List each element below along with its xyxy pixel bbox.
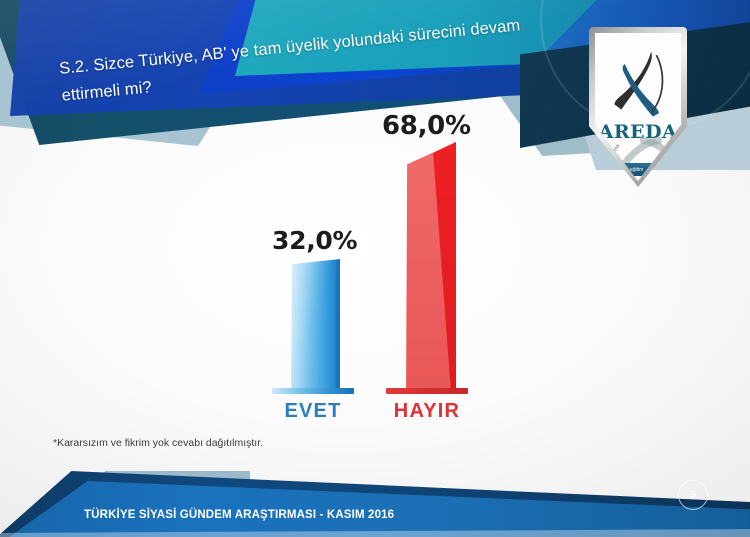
footer-title: TÜRKİYE SİYASİ GÜNDEM ARAŞTIRMASI - KASI… xyxy=(84,509,394,521)
slide-footer: TÜRKİYE SİYASİ GÜNDEM ARAŞTIRMASI - KASI… xyxy=(0,467,750,537)
bar-hayir xyxy=(404,142,456,390)
bar-evet xyxy=(288,259,340,390)
bar-evet-highlight xyxy=(288,259,340,390)
page-number: 3 xyxy=(678,480,708,510)
bar-value-label-hayir: 68,0% xyxy=(382,111,471,141)
slide: S.2. Sizce Türkiye, AB' ye tam üyelik yo… xyxy=(0,0,750,537)
chart-footnote: *Kararsızım ve fikrim yok cevabı dağıtıl… xyxy=(53,437,263,449)
page-number-badge: 3 xyxy=(678,480,708,510)
baseline-hayir xyxy=(386,388,468,394)
category-label-hayir: HAYIR xyxy=(357,400,497,423)
baseline-evet xyxy=(272,388,354,394)
bar-value-label-evet: 32,0% xyxy=(272,226,357,255)
bar-chart: 32,0% 68,0% EVET HAYIR *Kararsızım ve fi… xyxy=(0,0,750,537)
